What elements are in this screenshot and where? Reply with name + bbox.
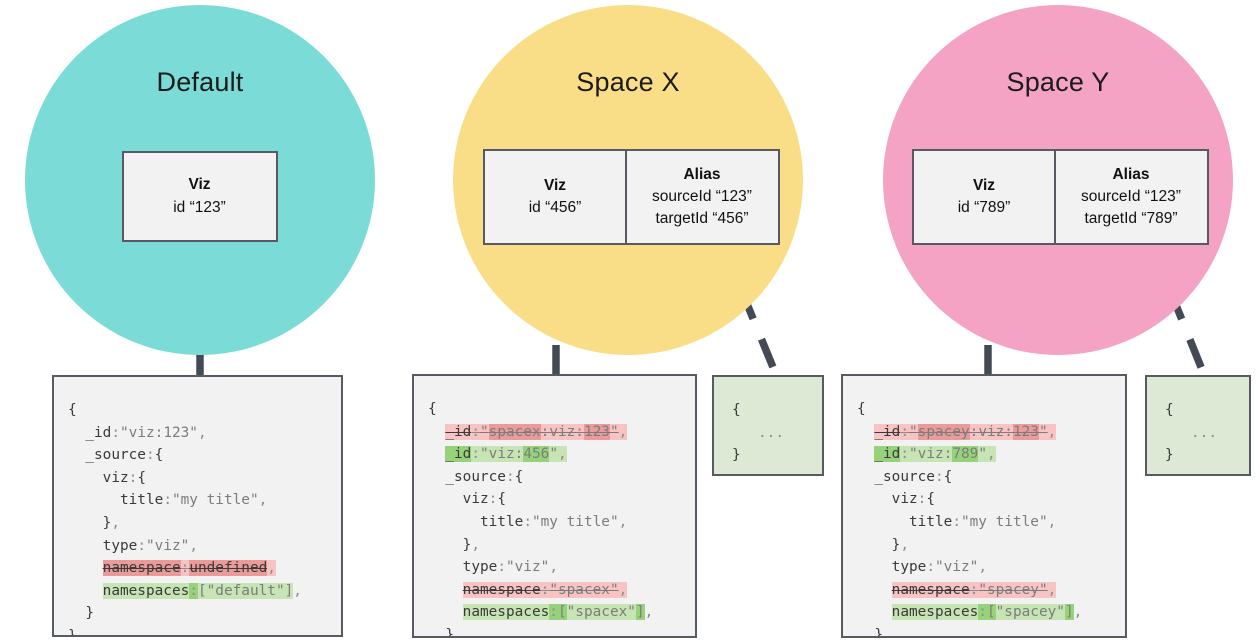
document-code-default: { _id:"viz:123", _source:{ viz:{ title:"… [54, 377, 341, 637]
entity-box-space-x[interactable]: Viz id “456” Alias sourceId “123” target… [483, 149, 780, 245]
entity-field-id: id “456” [529, 197, 582, 219]
entity-kind-label: Alias [683, 164, 720, 186]
entity-box-default[interactable]: Viz id “123” [122, 151, 278, 242]
entity-field-targetid: targetId “456” [655, 208, 748, 230]
entity-cell-alias-space-x: Alias sourceId “123” targetId “456” [625, 151, 777, 243]
space-label-space-x: Space X [453, 67, 803, 98]
entity-kind-label: Alias [1112, 164, 1149, 186]
alias-document-code-space-x: { ... } [714, 377, 822, 467]
entity-field-sourceid: sourceId “123” [1081, 186, 1181, 208]
document-code-space-y: { _id:"spacey:viz:123", _id:"viz:789", _… [843, 376, 1125, 638]
entity-box-space-y[interactable]: Viz id “789” Alias sourceId “123” target… [912, 149, 1209, 245]
document-box-space-x[interactable]: { _id:"spacex:viz:123", _id:"viz:456", _… [412, 374, 697, 638]
entity-cell-alias-space-y: Alias sourceId “123” targetId “789” [1054, 151, 1206, 243]
entity-kind-label: Viz [544, 175, 566, 197]
space-label-space-y: Space Y [883, 67, 1233, 98]
space-label-default: Default [25, 67, 375, 98]
entity-field-id: id “123” [173, 197, 226, 219]
document-box-space-y[interactable]: { _id:"spacey:viz:123", _id:"viz:789", _… [841, 374, 1127, 638]
diagram-canvas: Default Viz id “123” { _id:"viz:123", _s… [0, 0, 1260, 642]
alias-document-box-space-x[interactable]: { ... } [712, 375, 824, 476]
entity-kind-label: Viz [188, 174, 210, 196]
entity-field-id: id “789” [958, 197, 1011, 219]
document-box-default[interactable]: { _id:"viz:123", _source:{ viz:{ title:"… [52, 375, 343, 637]
entity-field-sourceid: sourceId “123” [652, 186, 752, 208]
entity-cell-viz-space-y: Viz id “789” [914, 151, 1054, 243]
entity-field-targetid: targetId “789” [1084, 208, 1177, 230]
alias-document-code-space-y: { ... } [1147, 377, 1249, 467]
document-code-space-x: { _id:"spacex:viz:123", _id:"viz:456", _… [414, 376, 695, 638]
entity-cell-viz-space-x: Viz id “456” [485, 151, 625, 243]
alias-document-box-space-y[interactable]: { ... } [1145, 375, 1251, 476]
entity-cell-viz-default: Viz id “123” [124, 153, 275, 240]
entity-kind-label: Viz [973, 175, 995, 197]
